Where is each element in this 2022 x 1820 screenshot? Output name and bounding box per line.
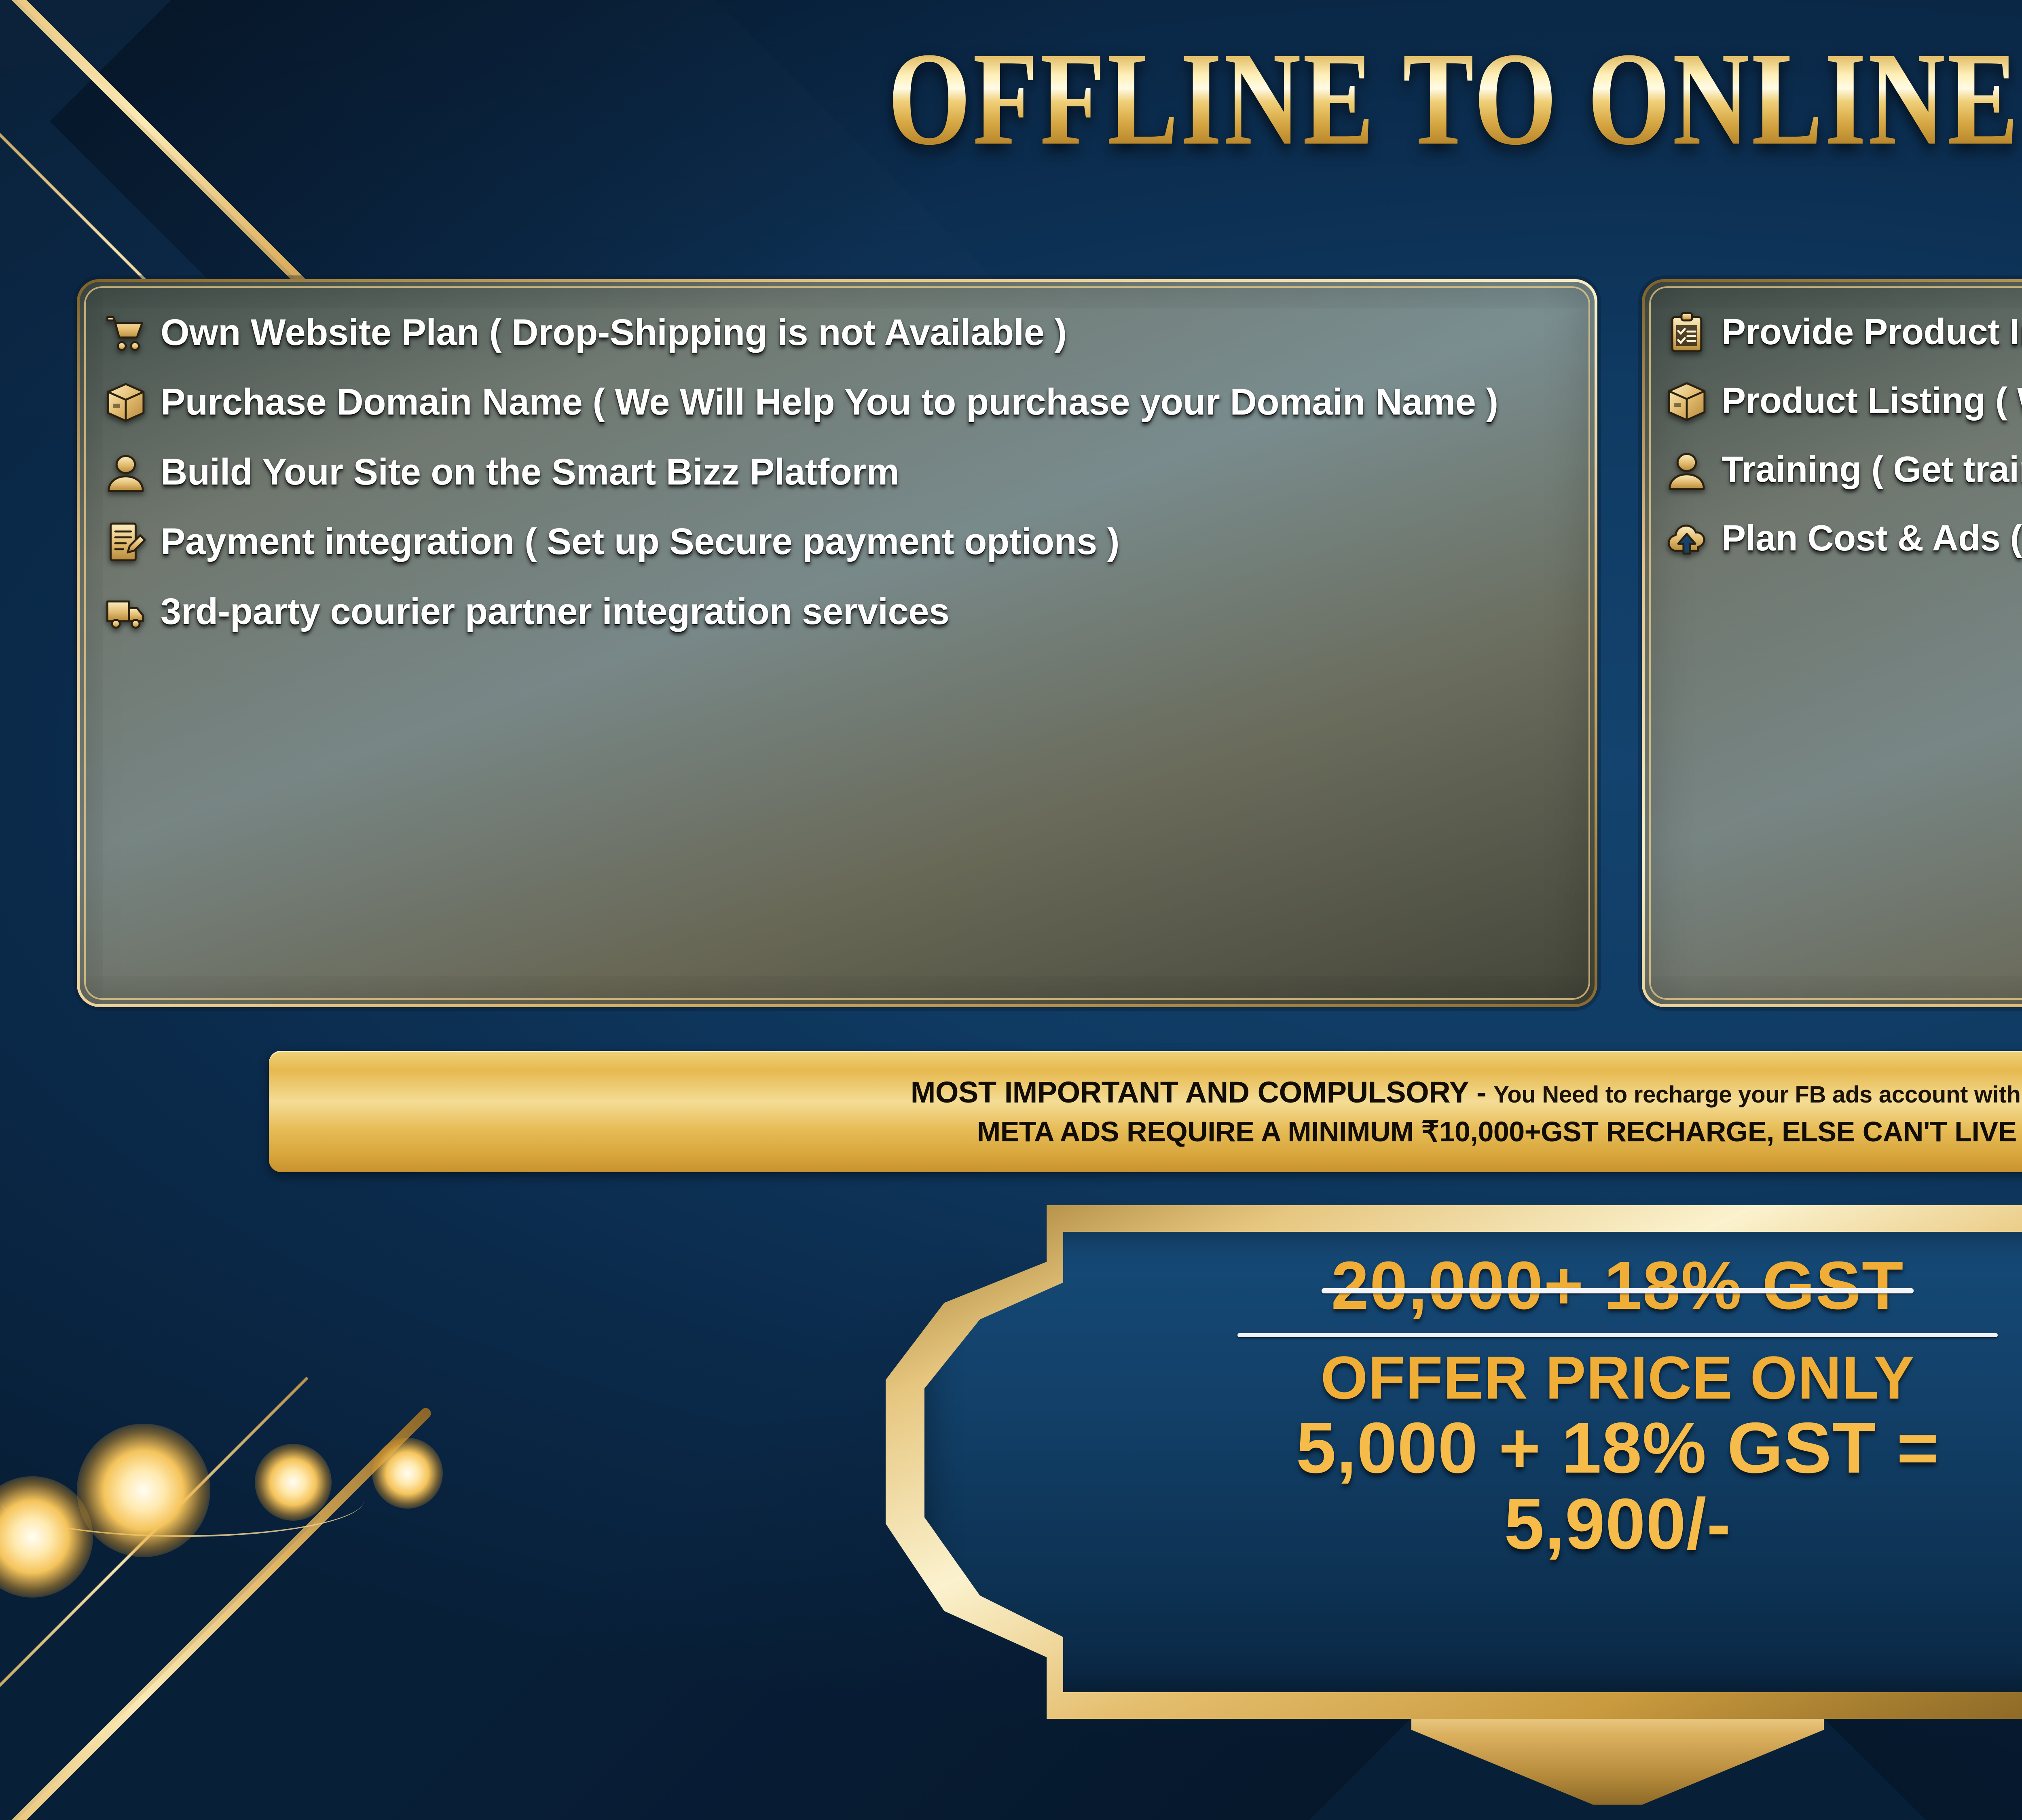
- banner-line-2: META ADS REQUIRE A MINIMUM ₹10,000+GST R…: [977, 1115, 2022, 1148]
- list-item-label: Own Website Plan ( Drop-Shipping is not …: [161, 310, 1067, 355]
- list-item: Product Listing ( We will List 20 produc…: [1666, 379, 2022, 423]
- list-item: Provide Product Info ( Client provides p…: [1666, 310, 2022, 354]
- delivery-truck-icon: [105, 591, 147, 633]
- cloud-upload-icon: [1666, 518, 1708, 560]
- banner-line-1: MOST IMPORTANT AND COMPULSORY - You Need…: [911, 1075, 2022, 1109]
- compulsory-notice-banner: MOST IMPORTANT AND COMPULSORY - You Need…: [269, 1051, 2022, 1172]
- list-item: Training ( Get training for adding more …: [1666, 448, 2022, 491]
- list-item-label: Plan Cost & Ads ( 5,000+ tax ( Plan Fee …: [1722, 516, 2022, 560]
- clipboard-checklist-icon: [1666, 312, 1708, 354]
- list-item-label: Training ( Get training for adding more …: [1722, 448, 2022, 491]
- list-item: Payment integration ( Set up Secure paym…: [105, 519, 1570, 564]
- package-box-icon: [105, 381, 147, 423]
- list-item: Build Your Site on the Smart Bizz Platfo…: [105, 450, 1570, 494]
- new-price-line-1: 5,000 + 18% GST =: [1296, 1410, 1939, 1486]
- right-feature-panel: Provide Product Info ( Client provides p…: [1642, 279, 2022, 1007]
- list-item-label: Payment integration ( Set up Secure paym…: [161, 519, 1119, 564]
- promotional-poster: OFFLINE TO ONLINE PLAN Own Website Plan …: [0, 0, 2022, 1820]
- price-divider: [1237, 1333, 1998, 1337]
- banner-line-1-light: You Need to recharge your FB ads account…: [1493, 1081, 2022, 1108]
- offer-price-label: OFFER PRICE ONLY: [1321, 1346, 1915, 1410]
- list-item-label: Purchase Domain Name ( We Will Help You …: [161, 380, 1498, 424]
- feature-panels: Own Website Plan ( Drop-Shipping is not …: [0, 279, 2022, 1007]
- new-price-line-2: 5,900/-: [1504, 1486, 1731, 1562]
- package-box-icon: [1666, 381, 1708, 423]
- corner-gold-line-bl-3: [0, 1377, 309, 1808]
- left-feature-panel: Own Website Plan ( Drop-Shipping is not …: [77, 279, 1597, 1007]
- list-item-label: Build Your Site on the Smart Bizz Platfo…: [161, 450, 899, 494]
- list-item-label: Product Listing ( We will List 20 produc…: [1722, 379, 2022, 423]
- corner-gold-line-bl-2: [0, 1513, 321, 1820]
- list-item: Plan Cost & Ads ( 5,000+ tax ( Plan Fee …: [1666, 516, 2022, 560]
- memo-pencil-icon: [105, 521, 147, 563]
- bokeh-light-string: [0, 1343, 582, 1626]
- page-title: OFFLINE TO ONLINE PLAN: [324, 32, 2022, 166]
- price-badge: 20,000+ 18% GST OFFER PRICE ONLY 5,000 +…: [886, 1205, 2022, 1820]
- list-item-label: Provide Product Info ( Client provides p…: [1722, 310, 2022, 354]
- list-item-label: 3rd-party courier partner integration se…: [161, 589, 950, 634]
- price-badge-body: 20,000+ 18% GST OFFER PRICE ONLY 5,000 +…: [924, 1232, 2022, 1692]
- old-price-struck: 20,000+ 18% GST: [1331, 1251, 1904, 1319]
- person-bust-icon: [1666, 449, 1708, 491]
- corner-gold-line-tl-2: [0, 0, 321, 307]
- banner-line-1-strong: MOST IMPORTANT AND COMPULSORY -: [911, 1075, 1486, 1109]
- list-item: 3rd-party courier partner integration se…: [105, 589, 1570, 634]
- corner-gold-line-bl-1: [0, 1406, 433, 1820]
- person-bust-icon: [105, 451, 147, 493]
- list-item: Own Website Plan ( Drop-Shipping is not …: [105, 310, 1570, 355]
- list-item: Purchase Domain Name ( We Will Help You …: [105, 380, 1570, 424]
- shopping-cart-icon: [105, 312, 147, 354]
